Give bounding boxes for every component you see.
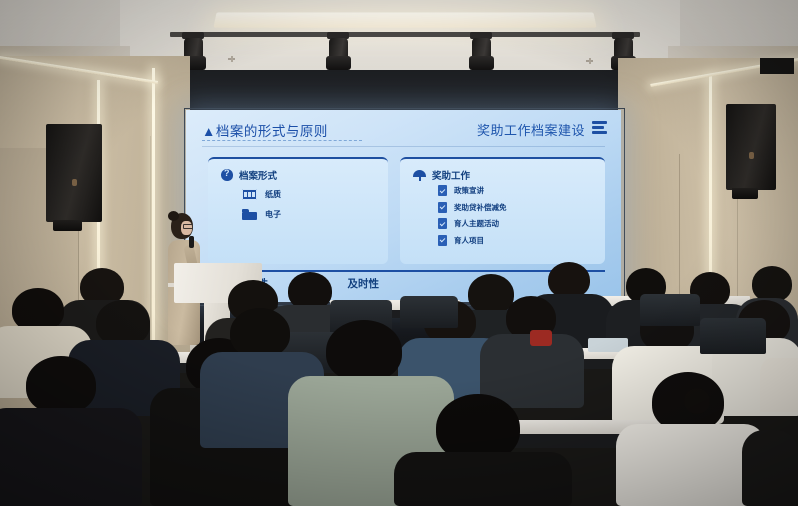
card-heading: 档案形式 (239, 168, 277, 182)
list-item-label: 纸质 (265, 189, 281, 200)
led-strip-icon (152, 68, 155, 356)
top-rule (202, 146, 605, 147)
audience-head (326, 320, 402, 382)
stage-spotlight-icon (323, 32, 353, 74)
lecture-hall-photo: ▲档案的形式与原则 奖助工作档案建设 档案形式 纸质 电子 (0, 0, 798, 506)
head-question-icon (221, 169, 233, 181)
lighting-rail (170, 32, 640, 37)
folder-icon (242, 209, 257, 220)
audience-torso (0, 408, 142, 506)
list-item: 育人主题活动 (438, 218, 507, 229)
audience-head (468, 274, 514, 314)
audience-torso (760, 358, 798, 412)
hair-bun (684, 388, 710, 414)
red-scarf (530, 330, 552, 346)
bottom-rule (202, 270, 605, 272)
list-item-label: 奖助贷补偿减免 (454, 202, 507, 213)
list-item: 纸质 (242, 189, 281, 200)
slide-card-award-work: 奖助工作 政策宣讲 奖助贷补偿减免 育人主题活动 育人项目 (400, 157, 605, 264)
list-item-label: 政策宣讲 (454, 185, 484, 196)
stacked-bars-icon (592, 121, 607, 134)
slide-title: ▲档案的形式与原则 (202, 120, 328, 140)
microphone-icon (189, 236, 194, 248)
check-document-icon (438, 202, 447, 213)
check-document-icon (438, 218, 447, 229)
list-item-label: 电子 (265, 209, 281, 220)
archive-boxes-icon (242, 189, 257, 200)
title-divider (202, 140, 362, 141)
card-header: 奖助工作 (413, 168, 470, 182)
chair (400, 296, 458, 328)
sprinkler-icon (586, 58, 593, 65)
sprinkler-icon (228, 56, 235, 63)
ceiling-speaker-right (760, 58, 794, 74)
list-item: 育人项目 (438, 235, 507, 246)
check-document-icon (438, 185, 447, 196)
led-strip-icon (0, 56, 158, 84)
audience-head (752, 266, 792, 302)
audience-torso (742, 430, 798, 506)
presenter-hair-bun (168, 211, 179, 221)
slide-kicker: 奖助工作档案建设 (477, 120, 585, 139)
audience-head (548, 262, 590, 298)
audience-torso (394, 452, 572, 506)
card-heading: 奖助工作 (432, 168, 470, 182)
list-item-label: 育人主题活动 (454, 218, 499, 229)
principle-item: 及时性 (348, 276, 380, 291)
ceiling-light-panel-icon (213, 12, 596, 27)
card-header: 档案形式 (221, 168, 277, 182)
audience-head (26, 356, 96, 414)
list-item: 奖助贷补偿减免 (438, 202, 507, 213)
wall-speaker-left (46, 124, 102, 222)
card-item-list: 政策宣讲 奖助贷补偿减免 育人主题活动 育人项目 (438, 185, 507, 251)
list-item-label: 育人项目 (454, 235, 484, 246)
wall-speaker-right (726, 104, 776, 190)
audience-head (230, 308, 290, 358)
stage-spotlight-icon (466, 32, 496, 74)
card-item-list: 纸质 电子 (242, 189, 281, 229)
list-item: 电子 (242, 209, 281, 220)
check-document-icon (438, 235, 447, 246)
chair (640, 294, 700, 326)
chair (700, 318, 766, 354)
glasses-icon (183, 224, 193, 229)
slide-card-archive-form: 档案形式 纸质 电子 (208, 157, 388, 264)
umbrella-icon (413, 169, 426, 181)
list-item: 政策宣讲 (438, 185, 507, 196)
